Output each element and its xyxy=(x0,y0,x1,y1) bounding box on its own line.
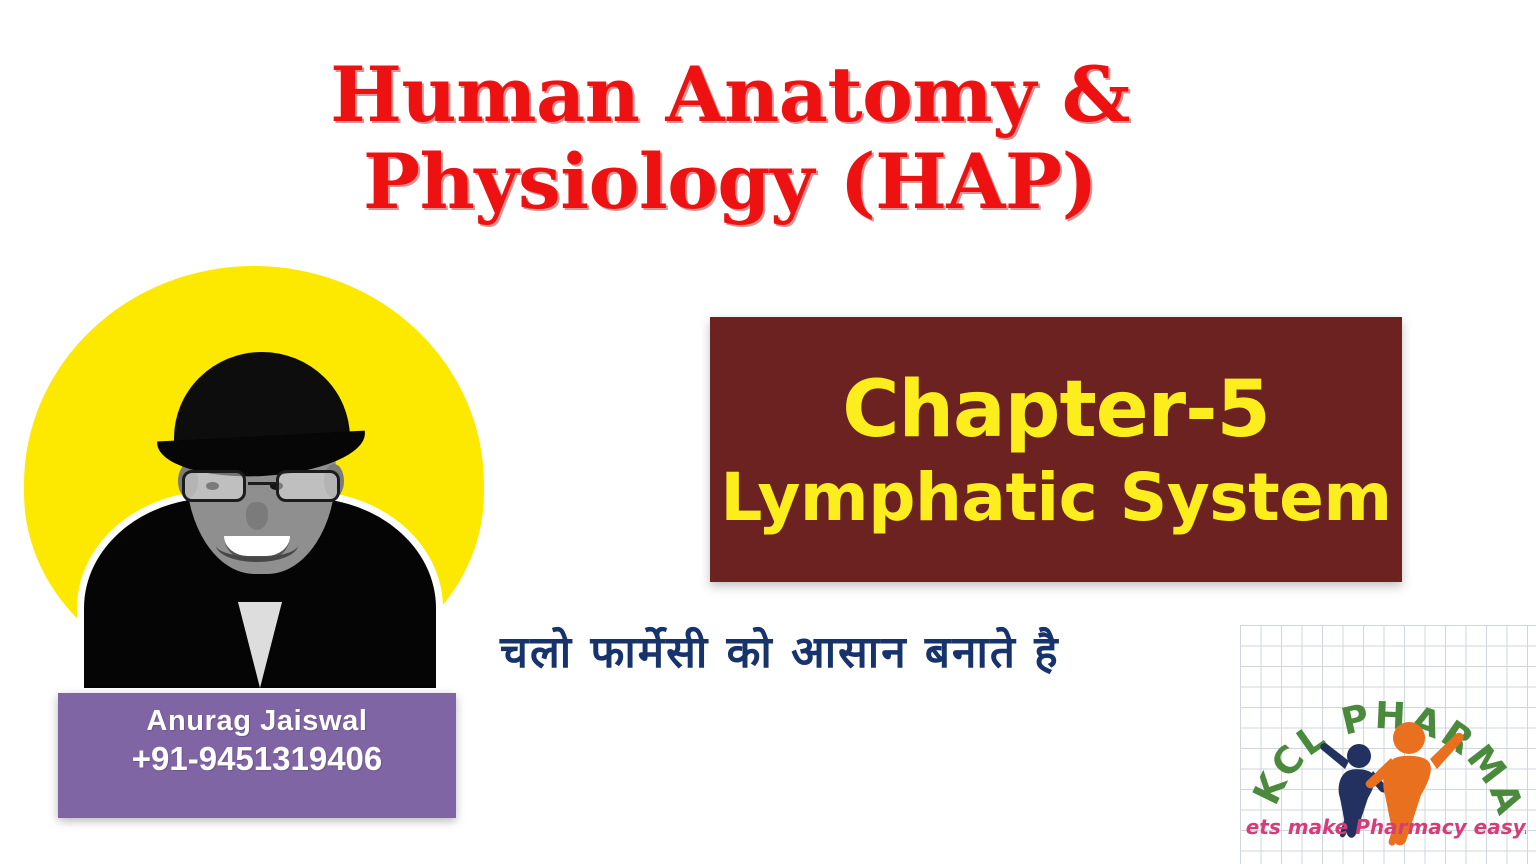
glasses-lens-left xyxy=(182,470,246,502)
presenter-name: Anurag Jaiswal xyxy=(146,703,367,739)
presenter-phone: +91-9451319406 xyxy=(132,739,383,779)
photo-nose xyxy=(246,502,268,530)
slide-canvas: Human Anatomy & Physiology (HAP) xyxy=(0,0,1536,864)
chapter-topic: Lymphatic System xyxy=(720,462,1391,535)
hindi-tagline: चलो फार्मेसी को आसान बनाते है xyxy=(500,620,1360,680)
logo-tagline: Lets make Pharmacy easy.. xyxy=(1246,815,1526,839)
chapter-card: Chapter-5 Lymphatic System xyxy=(710,317,1402,582)
presenter-photo xyxy=(130,296,390,688)
presenter-nameplate: Anurag Jaiswal +91-9451319406 xyxy=(58,693,456,818)
page-title: Human Anatomy & Physiology (HAP) xyxy=(0,52,1460,225)
title-line-2: Physiology (HAP) xyxy=(0,139,1460,226)
glasses-lens-right xyxy=(276,470,340,502)
photo-smile xyxy=(216,528,298,562)
title-line-1: Human Anatomy & xyxy=(0,52,1460,139)
chapter-number: Chapter-5 xyxy=(842,370,1270,452)
kcl-pharmacy-logo: KCL PHARMACY Lets make Pharmacy easy.. xyxy=(1246,638,1526,853)
photo-glasses xyxy=(182,470,340,504)
glasses-bridge xyxy=(248,482,274,485)
presenter-portrait xyxy=(10,258,480,698)
